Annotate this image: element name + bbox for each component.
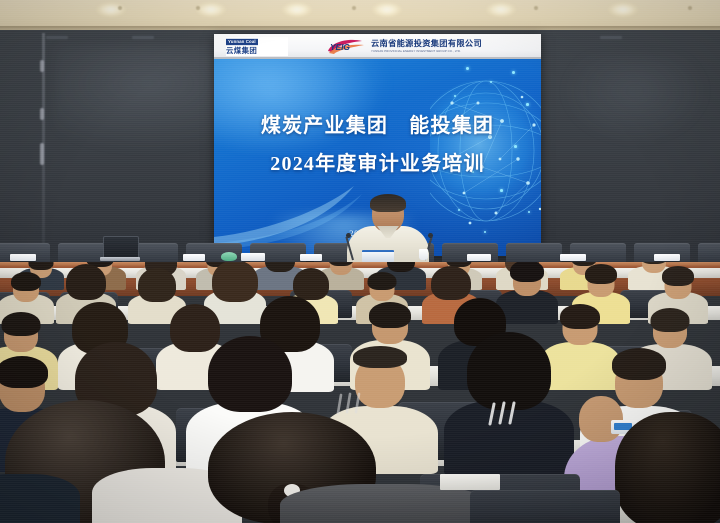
attendee-hair <box>615 412 720 523</box>
attendee-hair <box>369 302 411 328</box>
attendee-hair <box>467 332 551 410</box>
downlight-icon <box>486 2 516 17</box>
name-card <box>654 254 680 261</box>
attendee-hair <box>651 308 690 332</box>
attendee-hair <box>2 312 41 336</box>
yeig-logo-group: YEIG 云南省能源投资集团有限公司 YUNNAN PROVINCIAL ENE… <box>326 37 482 56</box>
ceiling-fixture-icon <box>534 6 538 10</box>
chair <box>470 490 620 523</box>
speaker-nameplate <box>362 250 394 262</box>
downlight-icon <box>96 2 126 17</box>
yunnan-coal-logo-english: Yunnan Coal <box>226 39 258 46</box>
yeig-company-chinese: 云南省能源投资集团有限公司 <box>371 40 482 48</box>
desk-object-green <box>221 252 237 261</box>
particle <box>490 81 492 83</box>
screen-banner: Yunnan Coal 云煤集团 YEIG 云南省能源投资集团有限公司 YUNN… <box>214 34 541 59</box>
wall-sheen-right <box>560 55 710 145</box>
attendee-hair <box>138 268 176 302</box>
yeig-company-text: 云南省能源投资集团有限公司 YUNNAN PROVINCIAL ENERGY I… <box>371 40 482 53</box>
attendee-hair <box>612 348 666 380</box>
conference-room-photo: Yunnan Coal 云煤集团 YEIG 云南省能源投资集团有限公司 YUNN… <box>0 0 720 523</box>
attendee-foreground-left <box>0 458 80 523</box>
attendee-hair <box>208 336 292 412</box>
audience-area <box>0 262 720 523</box>
yunnan-coal-logo: Yunnan Coal 云煤集团 <box>226 37 288 56</box>
attendee-hair <box>0 356 48 388</box>
yeig-abbreviation: YEIG <box>330 42 350 52</box>
wall-seam-glint <box>40 60 44 72</box>
attendee-hair <box>11 272 41 291</box>
particle <box>458 209 460 211</box>
downlight-icon <box>196 2 226 17</box>
yunnan-coal-logo-chinese: 云煤集团 <box>226 47 257 54</box>
name-card <box>467 254 491 261</box>
particle <box>500 189 503 192</box>
downlight-icon <box>372 2 402 17</box>
wall-seam-glint <box>40 143 44 165</box>
particle <box>454 95 456 97</box>
downlight-icon <box>282 2 312 17</box>
name-card <box>10 254 36 261</box>
attendee-hair <box>560 304 600 329</box>
attendee <box>444 332 574 466</box>
laptop-base <box>100 257 140 261</box>
wall-vent-icon <box>600 36 622 39</box>
attendee-hair <box>368 272 397 290</box>
desk-object-white <box>241 253 265 261</box>
name-card <box>300 254 322 261</box>
attendee-hair <box>585 264 617 284</box>
screen-title-line2: 2024年度审计业务培训 <box>214 147 541 176</box>
laptop-icon <box>103 236 137 261</box>
particle <box>512 71 515 74</box>
microphone-head-icon <box>428 233 433 238</box>
attendee-hair <box>510 262 544 282</box>
jacket-stripes <box>488 400 532 428</box>
ceiling-fixture-icon <box>352 6 356 10</box>
wall-vent-icon <box>132 36 154 39</box>
particle <box>528 211 530 213</box>
yeig-logo: YEIG <box>326 38 366 55</box>
wall-vent-icon <box>46 36 68 39</box>
attendee-hair <box>662 266 694 286</box>
wall-seam-glint <box>40 108 44 120</box>
cup-icon <box>419 249 428 260</box>
particle <box>466 67 469 70</box>
ceiling-fixture-icon <box>196 6 200 10</box>
paper-sheet <box>440 474 500 490</box>
name-card <box>560 254 586 261</box>
screen-glow-topleft <box>214 59 394 154</box>
attendee-hair <box>353 346 407 368</box>
downlight-icon <box>608 2 638 17</box>
attendee-hair <box>66 264 106 300</box>
attendee-body <box>0 474 80 523</box>
yeig-company-english: YUNNAN PROVINCIAL ENERGY INVESTMENT GROU… <box>371 50 482 53</box>
attendee-hair <box>431 266 471 300</box>
name-card <box>183 254 205 261</box>
particle <box>526 103 529 106</box>
microphone-head-icon <box>346 233 351 238</box>
speaker-hair <box>370 194 406 212</box>
ceiling-fixture-icon <box>688 6 692 10</box>
screen-title-line1: 煤炭产业集团 能投集团 <box>214 109 541 138</box>
ceiling-fixture-icon <box>118 6 122 10</box>
